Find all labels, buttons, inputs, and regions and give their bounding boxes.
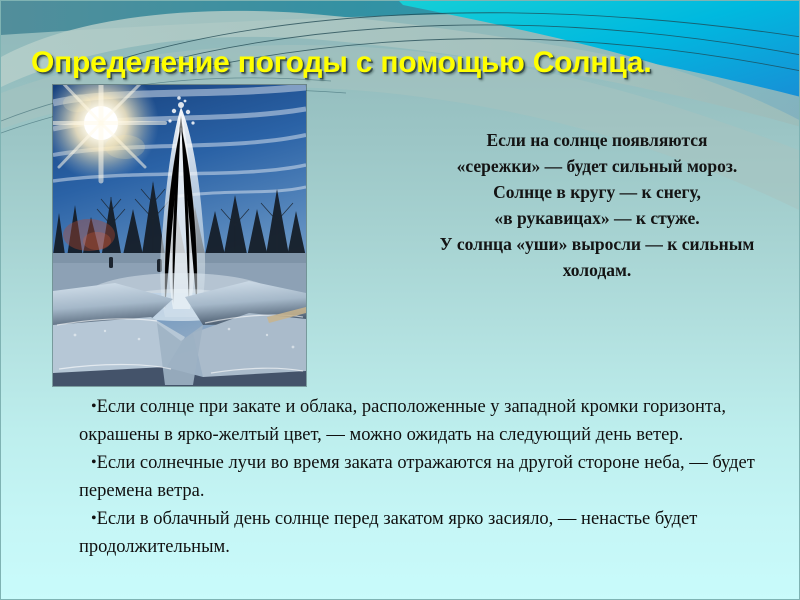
- list-item-text: Если солнце при закате и облака, располо…: [79, 397, 726, 445]
- presentation-slide: Определение погоды с помощью Солнца.: [0, 0, 800, 600]
- winter-fountain-photo: [53, 85, 306, 386]
- quote-line: холодам.: [401, 257, 793, 283]
- list-item-text: Если солнечные лучи во время заката отра…: [79, 453, 755, 501]
- quote-line: У солнца «уши» выросли — к сильным: [401, 231, 793, 257]
- list-item: •Если солнечные лучи во время заката отр…: [79, 449, 779, 505]
- quote-line: «в рукавицах» — к стуже.: [401, 205, 793, 231]
- list-item: •Если солнце при закате и облака, распол…: [79, 393, 779, 449]
- top-teal-band: [1, 1, 800, 35]
- page-title: Определение погоды с помощью Солнца.: [31, 45, 771, 81]
- list-item: •Если в облачный день солнце перед закат…: [79, 505, 779, 561]
- quote-line: «сережки» — будет сильный мороз.: [401, 153, 793, 179]
- quote-line: Если на солнце появляются: [401, 127, 793, 153]
- weather-notes-list: •Если солнце при закате и облака, распол…: [79, 393, 779, 561]
- list-item-text: Если в облачный день солнце перед закато…: [79, 509, 697, 557]
- weather-signs-quote: Если на солнце появляются «сережки» — бу…: [401, 127, 793, 283]
- quote-line: Солнце в кругу — к снегу,: [401, 179, 793, 205]
